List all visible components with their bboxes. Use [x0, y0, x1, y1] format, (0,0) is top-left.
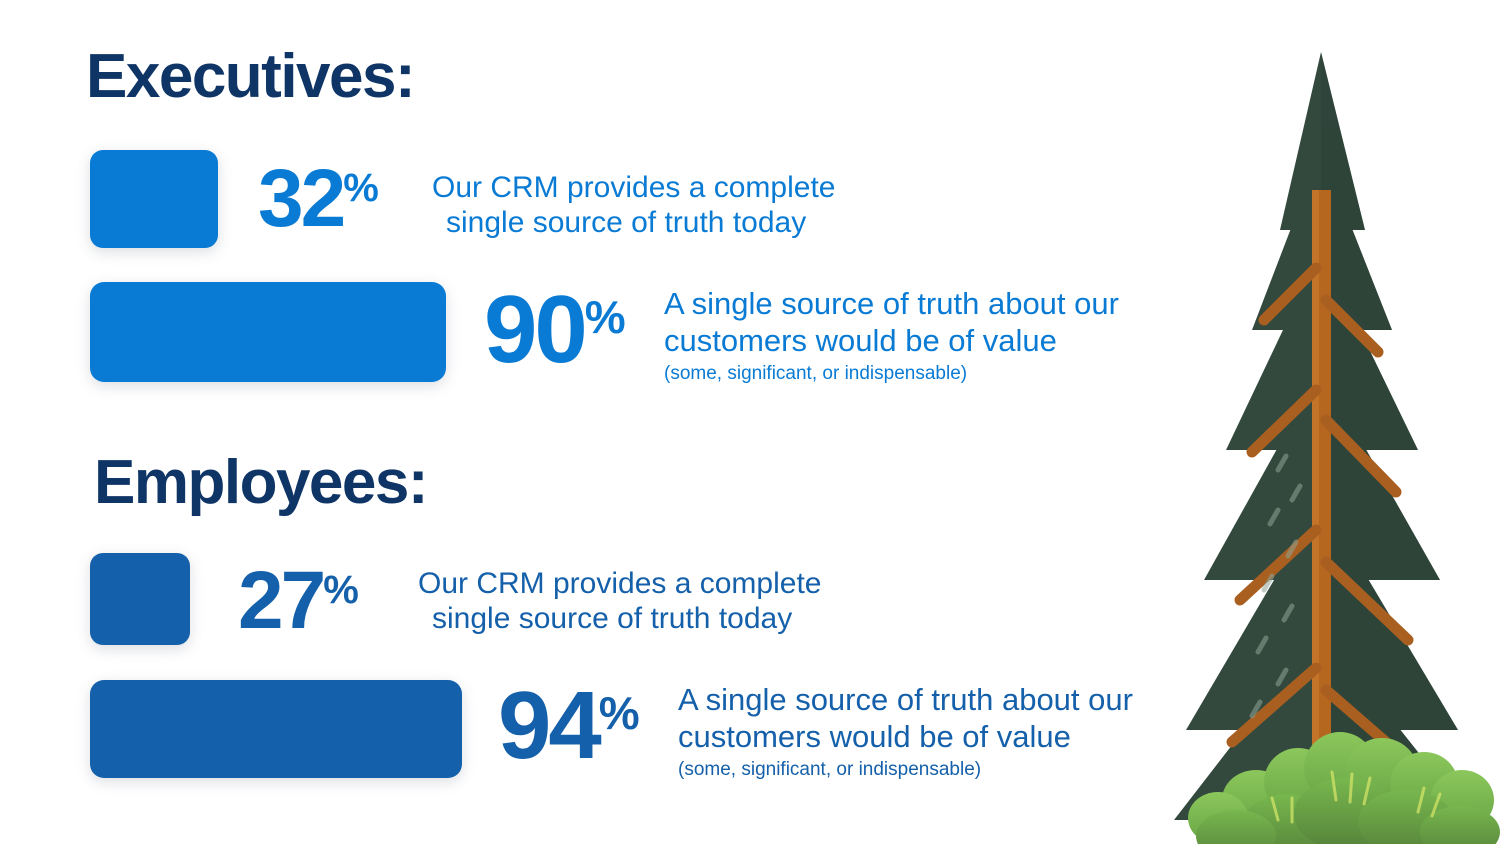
bar-executives-90 — [90, 282, 446, 382]
tree-foliage — [1174, 52, 1472, 820]
infographic-canvas: Executives: 32 % Our CRM provides a comp… — [0, 0, 1500, 844]
percent-number: 32 — [258, 166, 343, 232]
caption-line-2: customers would be of value — [678, 719, 1133, 756]
bar-employees-27 — [90, 553, 190, 645]
caption-line-1: Our CRM provides a complete — [418, 566, 821, 601]
tree-shading — [1321, 52, 1472, 820]
caption-employees-94: A single source of truth about our custo… — [678, 682, 1133, 782]
percent-symbol: % — [585, 294, 625, 340]
bushes — [1188, 732, 1500, 844]
percent-executives-32: 32 % — [258, 166, 378, 232]
needle-flecks — [1252, 456, 1300, 716]
percent-symbol: % — [323, 570, 358, 610]
tree-branches — [1232, 268, 1418, 770]
tree-trunk — [1312, 190, 1331, 830]
percent-symbol: % — [599, 690, 639, 736]
section-heading-employees: Employees: — [94, 452, 427, 514]
caption-executives-90: A single source of truth about our custo… — [664, 286, 1119, 386]
caption-note: (some, significant, or indispensable) — [678, 759, 1133, 781]
percent-symbol: % — [343, 168, 378, 208]
percent-employees-94: 94 % — [498, 688, 639, 765]
statistics-content: Executives: 32 % Our CRM provides a comp… — [0, 0, 1200, 844]
percent-number: 27 — [238, 568, 323, 634]
caption-executives-32: Our CRM provides a complete single sourc… — [432, 170, 835, 241]
caption-line-2: single source of truth today — [432, 205, 835, 240]
caption-line-1: A single source of truth about our — [664, 286, 1119, 323]
caption-line-2: customers would be of value — [664, 323, 1119, 360]
caption-line-2: single source of truth today — [418, 601, 821, 636]
bar-employees-94 — [90, 680, 462, 778]
caption-note: (some, significant, or indispensable) — [664, 363, 1119, 385]
caption-employees-27: Our CRM provides a complete single sourc… — [418, 566, 821, 637]
bar-executives-32 — [90, 150, 218, 248]
percent-number: 94 — [498, 688, 599, 765]
caption-line-1: Our CRM provides a complete — [432, 170, 835, 205]
percent-employees-27: 27 % — [238, 568, 358, 634]
percent-executives-90: 90 % — [484, 292, 625, 369]
section-heading-executives: Executives: — [86, 46, 414, 108]
caption-line-1: A single source of truth about our — [678, 682, 1133, 719]
tree-icon — [1160, 0, 1500, 844]
pine-tree-illustration — [1160, 0, 1500, 844]
percent-number: 90 — [484, 292, 585, 369]
